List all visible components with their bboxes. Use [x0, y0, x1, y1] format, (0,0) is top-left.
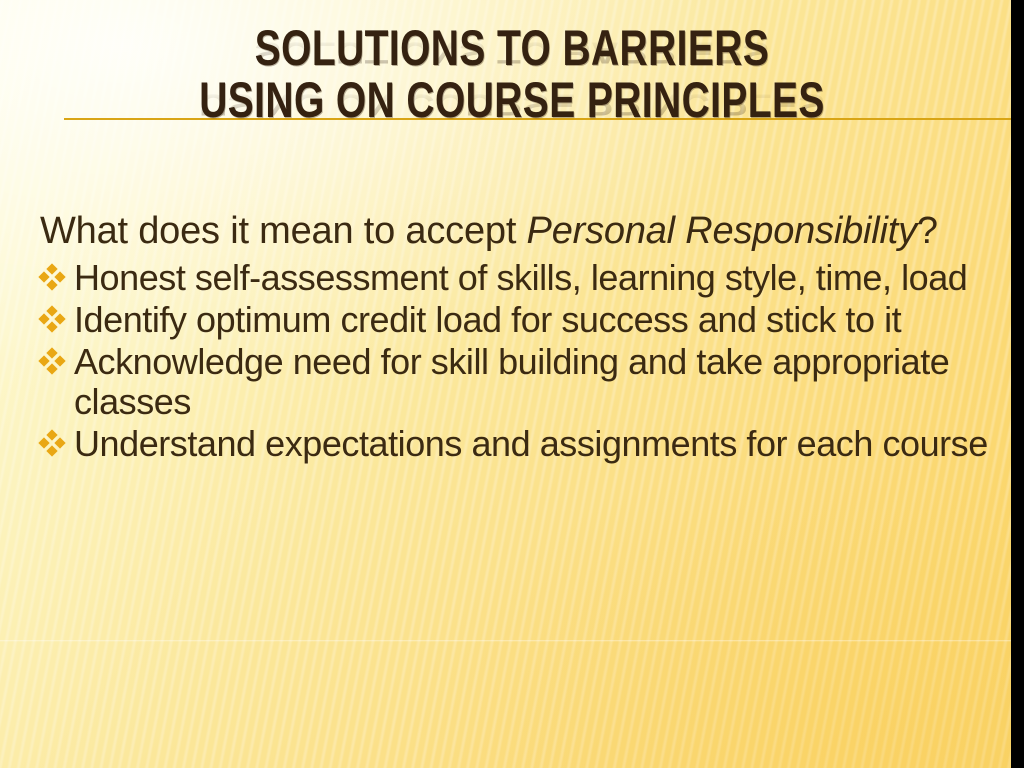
slide-body: What does it mean to accept Personal Res…	[32, 172, 1004, 466]
slide-title: SOLUTIONS TO BARRIERS SOLUTIONS TO BARRI…	[0, 22, 1024, 126]
diamond-bullet-icon	[40, 349, 64, 373]
diamond-bullet-icon	[40, 431, 64, 455]
right-edge-band	[1011, 0, 1024, 768]
list-item: Acknowledge need for skill building and …	[32, 342, 1004, 422]
bullet-list: Honest self-assessment of skills, learni…	[32, 258, 1004, 464]
title-line-2: USING ON COURSE PRINCIPLES	[113, 74, 912, 126]
diamond-bullet-icon	[40, 307, 64, 331]
list-item-label: Acknowledge need for skill building and …	[74, 342, 1004, 422]
list-item: Honest self-assessment of skills, learni…	[32, 258, 1004, 298]
list-item-label: Honest self-assessment of skills, learni…	[74, 258, 1004, 298]
lead-text-before: What does it mean to accept	[40, 210, 527, 252]
list-item-label: Identify optimum credit load for success…	[74, 300, 1004, 340]
list-item-label: Understand expectations and assignments …	[74, 424, 1004, 464]
title-line-2-wrapper: USING ON COURSE PRINCIPLES USING ON COUR…	[0, 74, 1024, 126]
lead-text-emphasis: Personal Responsibility	[527, 210, 917, 252]
slide-background-seam	[0, 640, 1024, 642]
diamond-bullet-icon	[40, 265, 64, 289]
list-item: Identify optimum credit load for success…	[32, 300, 1004, 340]
lead-text-after: ?	[917, 210, 938, 252]
title-line-1: SOLUTIONS TO BARRIERS	[113, 22, 912, 74]
lead-paragraph: What does it mean to accept Personal Res…	[32, 210, 1004, 252]
presentation-slide: SOLUTIONS TO BARRIERS SOLUTIONS TO BARRI…	[0, 0, 1024, 768]
title-line-1-wrapper: SOLUTIONS TO BARRIERS SOLUTIONS TO BARRI…	[0, 22, 1024, 74]
list-item: Understand expectations and assignments …	[32, 424, 1004, 464]
